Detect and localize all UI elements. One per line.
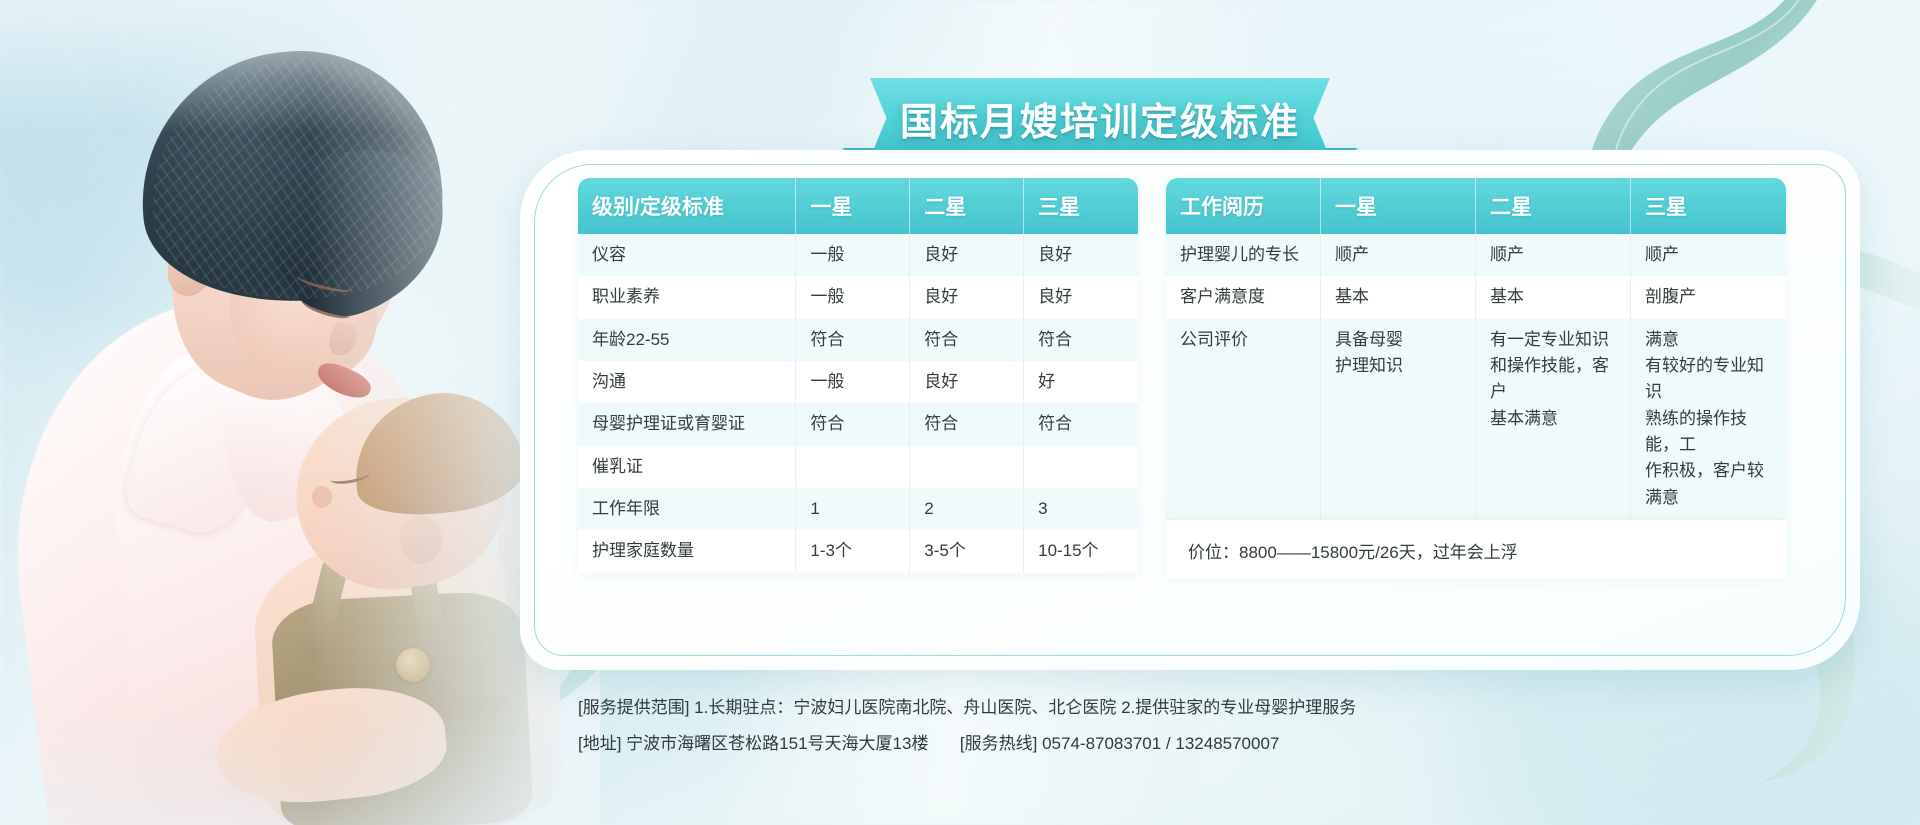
cell-one-star: 一般 [796,276,910,318]
table-row: 年龄22-55 符合 符合 符合 [578,319,1138,361]
cell-two-star: 良好 [910,361,1024,403]
cell-one-star: 1 [796,488,910,530]
right-table-body: 护理婴儿的专长 顺产 顺产 顺产 客户满意度 [1166,234,1786,519]
row-label: 年龄22-55 [578,319,796,361]
table-header-row: 工作阅历 一星 二星 三星 [1166,178,1786,234]
cell-one-star: 一般 [796,234,910,276]
banner-title-text: 国标月嫂培训定级标准 [870,78,1330,158]
column-header-experience: 工作阅历 [1166,178,1321,234]
row-label: 职业素养 [578,276,796,318]
cell-one-star: 一般 [796,361,910,403]
left-table-wrapper: 级别/定级标准 一星 二星 三星 仪容 一般 良好 良好 [578,178,1138,579]
table-row: 职业素养 一般 良好 良好 [578,276,1138,318]
table-row: 沟通 一般 良好 好 [578,361,1138,403]
cell-two-star: 顺产 [1476,234,1631,276]
cell-three-star: 好 [1024,361,1138,403]
grading-standard-table: 级别/定级标准 一星 二星 三星 仪容 一般 良好 良好 [578,178,1138,573]
row-label: 沟通 [578,361,796,403]
column-header-criteria: 级别/定级标准 [578,178,796,234]
column-header-three-star: 三星 [1024,178,1138,234]
table-row: 催乳证 [578,446,1138,488]
table-row: 母婴护理证或育婴证 符合 符合 符合 [578,403,1138,445]
cell-one-star: 基本 [1321,276,1476,318]
row-label: 客户满意度 [1166,276,1321,318]
column-header-three-star: 三星 [1631,178,1786,234]
cell-three-star [1024,446,1138,488]
cell-three-star: 剖腹产 [1631,276,1786,318]
row-label: 工作年限 [578,488,796,530]
caregiver-and-baby-photo [0,0,600,825]
cell-three-star: 符合 [1024,319,1138,361]
address-text: [地址] 宁波市海曙区苍松路151号天海大厦13楼 [578,734,928,753]
footer-info: [服务提供范围] 1.长期驻点：宁波妇儿医院南北院、舟山医院、北仑医院 2.提供… [578,690,1828,761]
cell-one-star [796,446,910,488]
cell-one-star: 1-3个 [796,530,910,572]
cell-two-star: 良好 [910,234,1024,276]
row-label: 护理婴儿的专长 [1166,234,1321,276]
table-row: 公司评价 具备母婴 护理知识 有一定专业知识 和操作技能，客户 基本满意 [1166,319,1786,519]
photo-fade-overlay [0,0,600,825]
title-banner: 国标月嫂培训定级标准 [870,78,1330,158]
cell-one-star: 顺产 [1321,234,1476,276]
cell-two-star: 良好 [910,276,1024,318]
cell-three-star: 符合 [1024,403,1138,445]
cell-two-star: 基本 [1476,276,1631,318]
price-note: 价位：8800——15800元/26天，过年会上浮 [1166,519,1786,579]
table-row: 护理家庭数量 1-3个 3-5个 10-15个 [578,530,1138,572]
cell-two-star: 有一定专业知识 和操作技能，客户 基本满意 [1476,319,1631,519]
cell-three-star: 良好 [1024,234,1138,276]
column-header-one-star: 一星 [1321,178,1476,234]
column-header-two-star: 二星 [910,178,1024,234]
column-header-two-star: 二星 [1476,178,1631,234]
work-experience-table: 工作阅历 一星 二星 三星 护理婴儿的专长 顺产 [1166,178,1786,519]
table-row: 工作年限 1 2 3 [578,488,1138,530]
right-table-wrapper: 工作阅历 一星 二星 三星 护理婴儿的专长 顺产 [1166,178,1786,579]
table-header-row: 级别/定级标准 一星 二星 三星 [578,178,1138,234]
cell-three-star: 10-15个 [1024,530,1138,572]
cell-two-star [910,446,1024,488]
hotline-text: [服务热线] 0574-87083701 / 13248570007 [960,734,1279,753]
column-header-one-star: 一星 [796,178,910,234]
cell-two-star: 符合 [910,319,1024,361]
cell-one-star: 符合 [796,403,910,445]
cell-two-star: 3-5个 [910,530,1024,572]
content-card: 级别/定级标准 一星 二星 三星 仪容 一般 良好 良好 [520,150,1860,670]
cell-two-star: 2 [910,488,1024,530]
cell-three-star: 顺产 [1631,234,1786,276]
tables-container: 级别/定级标准 一星 二星 三星 仪容 一般 良好 良好 [578,178,1802,579]
left-table-body: 仪容 一般 良好 良好 职业素养 一般 良好 良好 年龄22-55 [578,234,1138,573]
poster-stage: 国标月嫂培训定级标准 级别/定级标准 一星 二星 三星 [0,0,1920,825]
table-row: 仪容 一般 良好 良好 [578,234,1138,276]
cell-three-star: 3 [1024,488,1138,530]
contact-line: [地址] 宁波市海曙区苍松路151号天海大厦13楼 [服务热线] 0574-87… [578,726,1828,762]
cell-one-star: 符合 [796,319,910,361]
row-label: 催乳证 [578,446,796,488]
cell-two-star: 符合 [910,403,1024,445]
table-row: 护理婴儿的专长 顺产 顺产 顺产 [1166,234,1786,276]
cell-three-star: 良好 [1024,276,1138,318]
row-label: 仪容 [578,234,796,276]
row-label: 母婴护理证或育婴证 [578,403,796,445]
cell-one-star: 具备母婴 护理知识 [1321,319,1476,519]
row-label: 公司评价 [1166,319,1321,519]
row-label: 护理家庭数量 [578,530,796,572]
service-scope-line: [服务提供范围] 1.长期驻点：宁波妇儿医院南北院、舟山医院、北仑医院 2.提供… [578,690,1828,726]
cell-three-star: 满意 有较好的专业知识 熟练的操作技能，工 作积极，客户较满意 [1631,319,1786,519]
table-row: 客户满意度 基本 基本 剖腹产 [1166,276,1786,318]
